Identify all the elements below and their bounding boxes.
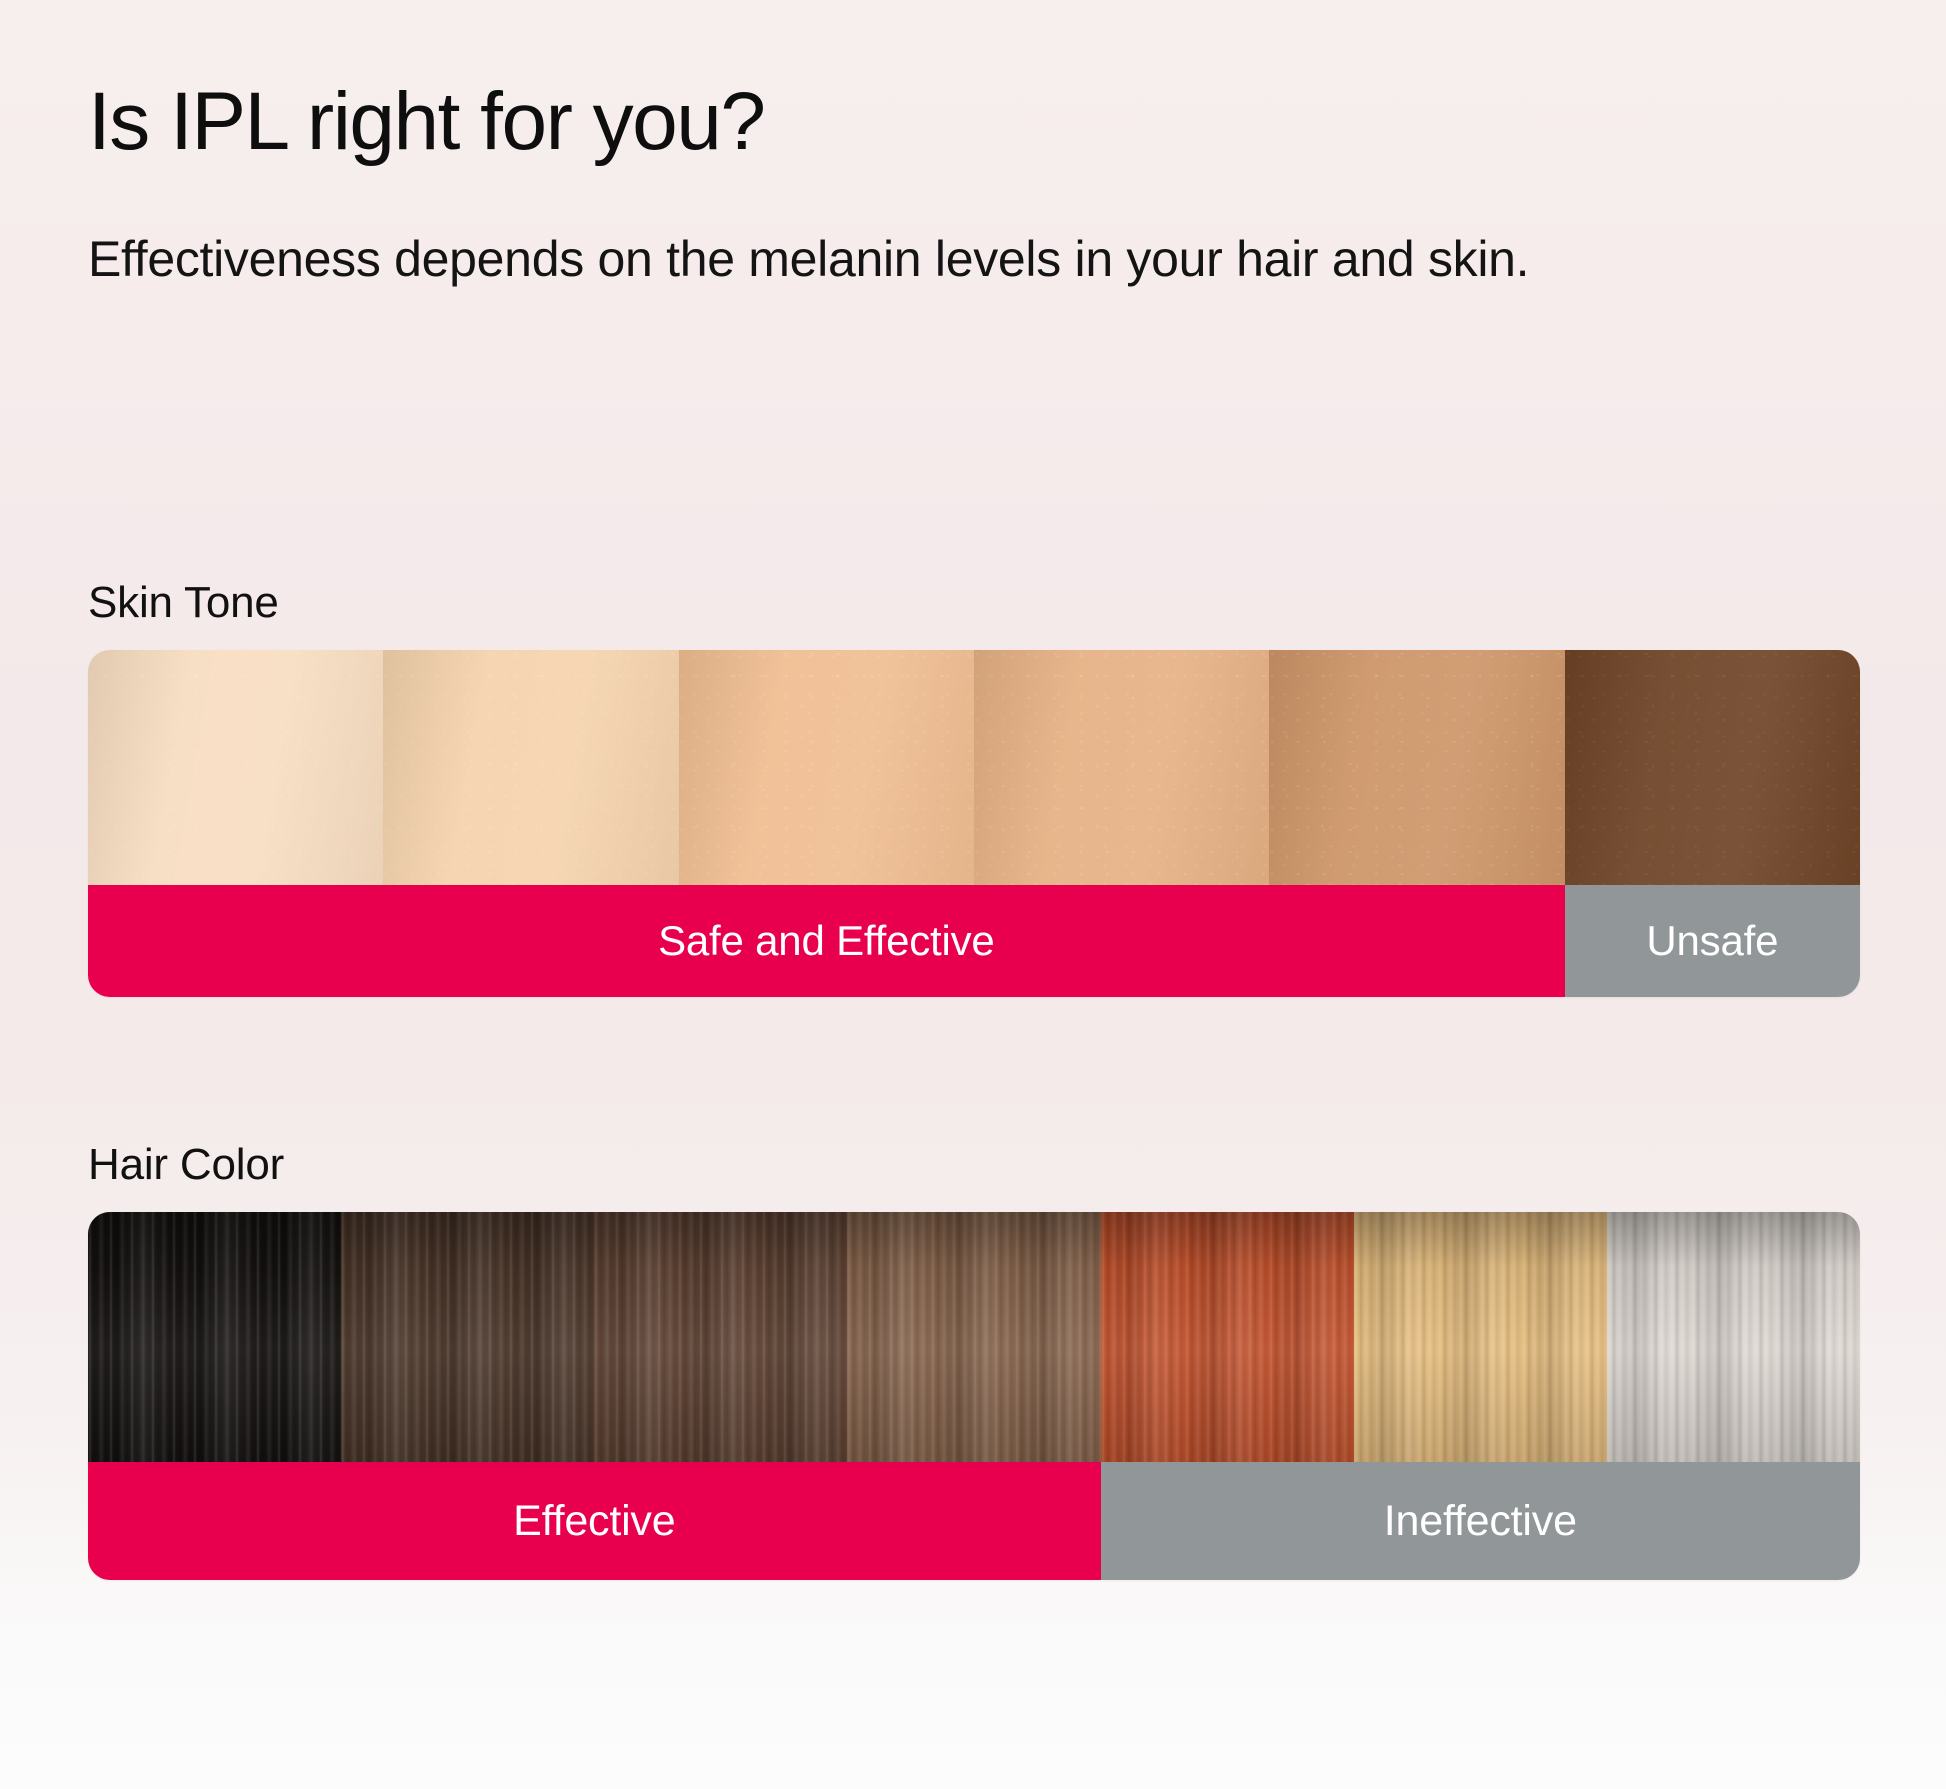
skin-tone-legend: Safe and EffectiveUnsafe <box>88 885 1860 997</box>
hair-color-legend: EffectiveIneffective <box>88 1462 1860 1580</box>
legend-ineffective-label: Ineffective <box>1384 1497 1577 1546</box>
heading-block: Is IPL right for you? Effectiveness depe… <box>88 78 1728 296</box>
hair-color-swatches <box>88 1212 1860 1462</box>
hair-color-white-grey <box>1607 1212 1860 1462</box>
hair-color-strip: EffectiveIneffective <box>88 1212 1860 1580</box>
skin-tone-2 <box>383 650 678 885</box>
hair-color-black <box>88 1212 341 1462</box>
hair-color-dark-brown <box>341 1212 594 1462</box>
legend-unsafe-label: Unsafe <box>1646 917 1778 965</box>
hair-color-red <box>1101 1212 1354 1462</box>
legend-safe-and-effective: Safe and Effective <box>88 885 1565 997</box>
skin-tone-6 <box>1565 650 1860 885</box>
legend-safe-and-effective-label: Safe and Effective <box>658 917 995 965</box>
skin-tone-label: Skin Tone <box>88 578 1860 628</box>
page-title: Is IPL right for you? <box>88 78 1728 167</box>
legend-unsafe: Unsafe <box>1565 885 1860 997</box>
legend-ineffective: Ineffective <box>1101 1462 1860 1580</box>
legend-effective: Effective <box>88 1462 1101 1580</box>
hair-color-light-brown <box>847 1212 1100 1462</box>
ipl-suitability-infographic: Is IPL right for you? Effectiveness depe… <box>0 0 1946 1789</box>
skin-tone-5 <box>1269 650 1564 885</box>
skin-tone-1 <box>88 650 383 885</box>
hair-color-medium-brown <box>594 1212 847 1462</box>
skin-tone-strip: Safe and EffectiveUnsafe <box>88 650 1860 997</box>
hair-color-label: Hair Color <box>88 1140 1860 1190</box>
hair-color-section: Hair Color EffectiveIneffective <box>88 1140 1860 1580</box>
skin-tone-4 <box>974 650 1269 885</box>
skin-tone-3 <box>679 650 974 885</box>
hair-color-blonde <box>1354 1212 1607 1462</box>
skin-tone-section: Skin Tone Safe and EffectiveUnsafe <box>88 578 1860 997</box>
legend-effective-label: Effective <box>513 1497 675 1546</box>
skin-tone-swatches <box>88 650 1860 885</box>
page-subtitle: Effectiveness depends on the melanin lev… <box>88 223 1628 296</box>
